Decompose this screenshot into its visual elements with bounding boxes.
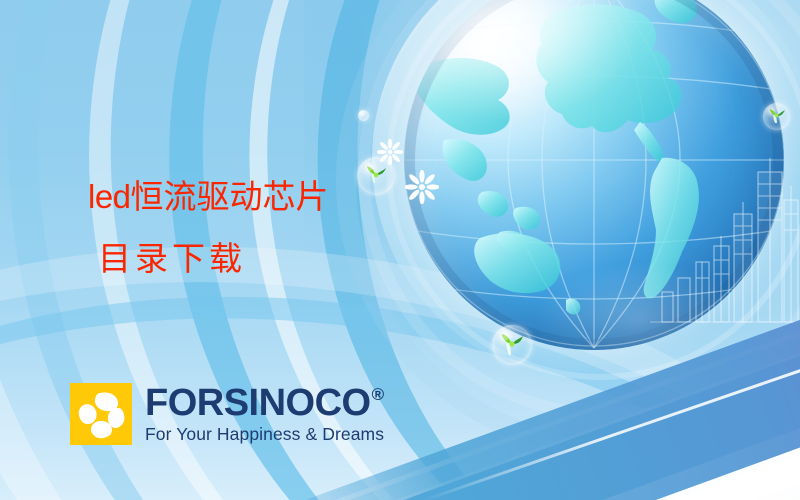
skyline-silhouette-icon bbox=[650, 150, 800, 330]
bubble-with-green-sprout-top-right-icon bbox=[763, 103, 790, 130]
headline-text: led恒流驱动芯片 目录下载 bbox=[88, 166, 329, 290]
headline-line-2: 目录下载 bbox=[98, 228, 329, 290]
logo-wordmark-text: FORSINOCO bbox=[145, 384, 371, 422]
headline-cjk-phrase: 恒流驱动芯片 bbox=[131, 177, 329, 216]
logo-text-block: FORSINOCO ® For Your Happiness & Dreams bbox=[145, 383, 384, 445]
white-flower-star-large-icon bbox=[405, 170, 439, 204]
bubble-tiny-icon bbox=[358, 110, 369, 121]
forsinoco-logo[interactable]: FORSINOCO ® For Your Happiness & Dreams bbox=[70, 383, 384, 445]
bubble-with-green-sprout-lower-icon bbox=[492, 325, 532, 365]
headline-line-1: led恒流驱动芯片 bbox=[88, 177, 329, 216]
headline-latin-word: led bbox=[88, 178, 131, 215]
registered-trademark-symbol: ® bbox=[372, 386, 384, 403]
promotional-banner: led恒流驱动芯片 目录下载 FORSINOCO ® For Your Happ… bbox=[0, 0, 800, 500]
four-petal-pinwheel-mark-icon bbox=[70, 383, 132, 445]
bubble-with-green-sprout-main-icon bbox=[357, 157, 395, 195]
logo-wordmark: FORSINOCO ® bbox=[145, 384, 384, 422]
logo-tagline: For Your Happiness & Dreams bbox=[145, 424, 384, 444]
